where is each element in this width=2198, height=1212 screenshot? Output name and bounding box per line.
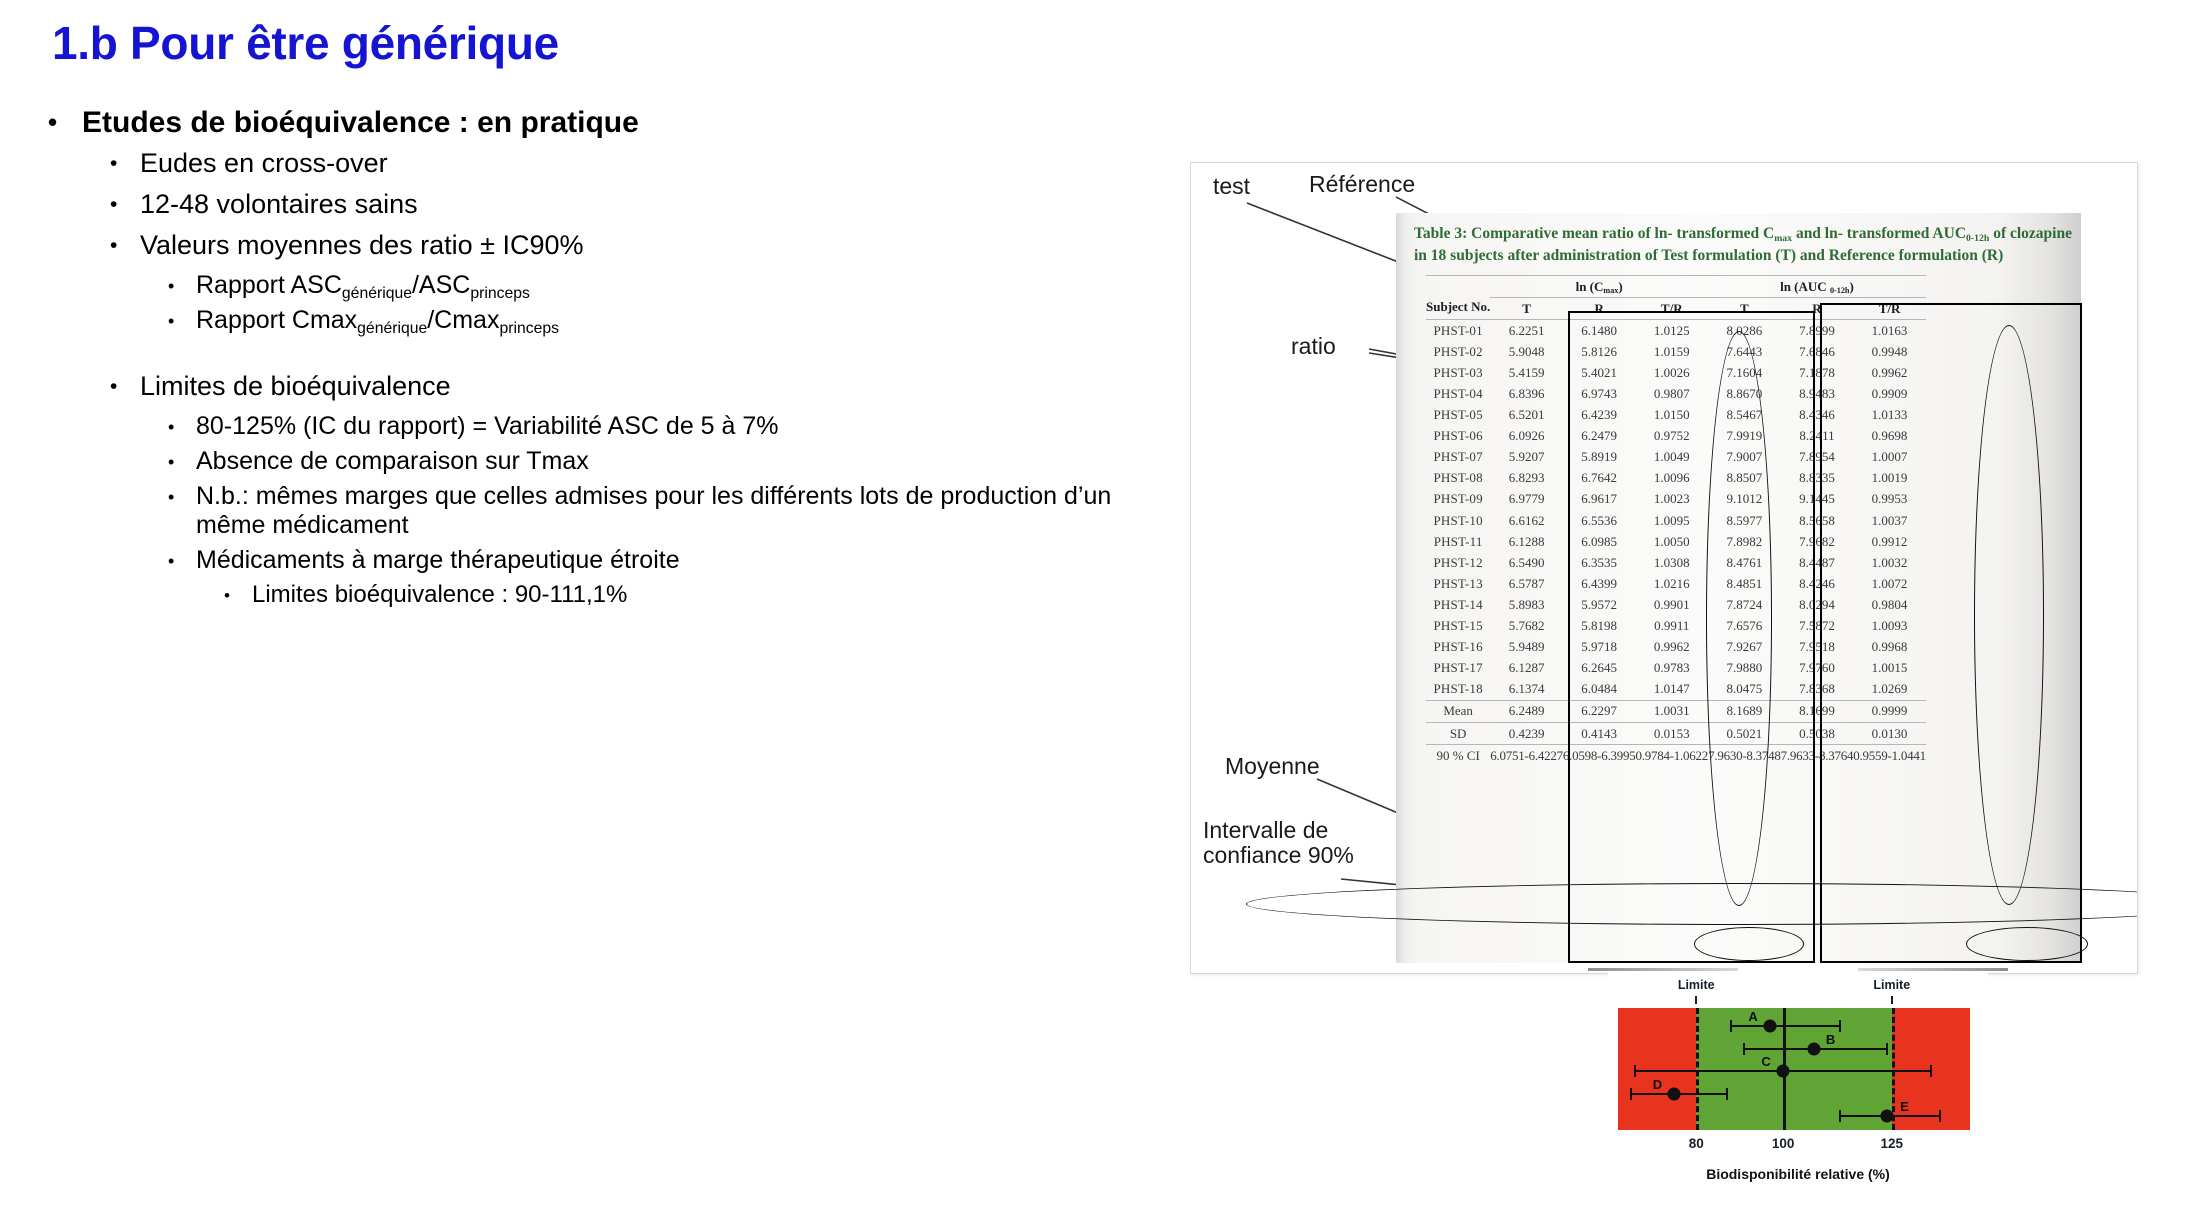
cell-subject: PHST-13 — [1426, 573, 1490, 594]
bullet-glyph: • — [110, 189, 140, 215]
cell-value: 5.9048 — [1490, 341, 1563, 362]
caption-part-2: and ln- transformed AUC — [1792, 225, 1966, 242]
cell-subject: PHST-08 — [1426, 468, 1490, 489]
asc-sub-generic: générique — [342, 285, 412, 302]
cell-value: 6.1288 — [1490, 531, 1563, 552]
cell-subject: PHST-12 — [1426, 552, 1490, 573]
bullet-text-nb: N.b.: mêmes marges que celles admises po… — [196, 482, 1158, 540]
cell-summary-label: SD — [1426, 722, 1490, 744]
cell-subject: PHST-03 — [1426, 362, 1490, 383]
bullet-glyph: • — [168, 306, 196, 330]
ellipse-mean-row — [1246, 883, 2138, 925]
list-item: • Médicaments à marge thérapeutique étro… — [48, 546, 1158, 575]
bullet-text-main: Etudes de bioéquivalence : en pratique — [82, 106, 1158, 140]
ci-cap-A-low — [1730, 1020, 1732, 1032]
bullet-glyph: • — [168, 412, 196, 436]
list-item: • Absence de comparaison sur Tmax — [48, 447, 1158, 476]
bullet-glyph: • — [168, 271, 196, 295]
cell-subject: PHST-05 — [1426, 405, 1490, 426]
column-group-auc: ln (AUC 0-12h) — [1708, 276, 1926, 298]
cell-subject: PHST-04 — [1426, 383, 1490, 404]
bullet-text-volunteers: 12-48 volontaires sains — [140, 189, 1158, 220]
data-point-B — [1807, 1042, 1820, 1055]
cell-subject: PHST-17 — [1426, 658, 1490, 679]
bullet-text-mean-ratio: Valeurs moyennes des ratio ± IC90% — [140, 230, 1158, 261]
limit-label-80: Limite — [1678, 978, 1715, 992]
cell-subject: PHST-07 — [1426, 447, 1490, 468]
cell-value: 6.5490 — [1490, 552, 1563, 573]
cell-value: 5.9489 — [1490, 637, 1563, 658]
caption-part-1: Table 3: Comparative mean ratio of ln- t… — [1414, 225, 1774, 242]
cmax-mid: /Cmax — [427, 306, 499, 334]
data-point-label-E: E — [1900, 1099, 1909, 1114]
data-point-C — [1777, 1065, 1790, 1078]
asc-sub-princeps: princeps — [470, 285, 530, 302]
bullet-text-tmax: Absence de comparaison sur Tmax — [196, 447, 1158, 476]
ci-cap-A-high — [1839, 1020, 1841, 1032]
data-point-label-A: A — [1748, 1009, 1757, 1024]
cell-value: 6.5201 — [1490, 405, 1563, 426]
asc-mid: /ASC — [412, 271, 470, 299]
ci-cap-C-high — [1930, 1065, 1932, 1077]
data-point-label-B: B — [1826, 1032, 1835, 1047]
list-item: • N.b.: mêmes marges que celles admises … — [48, 482, 1158, 540]
table-caption: Table 3: Comparative mean ratio of ln- t… — [1414, 223, 2073, 268]
cell-value: 6.8293 — [1490, 468, 1563, 489]
data-point-E — [1881, 1109, 1894, 1122]
list-item: • Rapport ASCgénérique/ASCprinceps — [48, 271, 1158, 300]
cmax-sub-generic: générique — [357, 320, 427, 337]
spacer — [48, 341, 1158, 371]
list-item: • Etudes de bioéquivalence : en pratique — [48, 106, 1158, 140]
annotation-ic90: Intervalle de confiance 90% — [1203, 818, 1383, 869]
ci-cap-B-low — [1743, 1043, 1745, 1055]
bullet-glyph: • — [110, 148, 140, 174]
caption-line-2: in 18 subjects after administration of T… — [1414, 247, 2003, 264]
bullet-text-asc-ratio: Rapport ASCgénérique/ASCprinceps — [196, 271, 1158, 300]
cell-summary-label: Mean — [1426, 700, 1490, 722]
cell-summary-label: 90 % CI — [1426, 745, 1490, 767]
data-point-D — [1668, 1087, 1681, 1100]
ci-cap-D-low — [1630, 1088, 1632, 1100]
cell-value: 6.5787 — [1490, 573, 1563, 594]
cmax-pre: Rapport Cmax — [196, 306, 357, 334]
bullet-text-90-111: Limites bioéquivalence : 90-111,1% — [252, 581, 1158, 609]
auc-post: ) — [1849, 279, 1853, 294]
bullet-glyph: • — [48, 106, 82, 135]
bullet-glyph: • — [110, 371, 140, 397]
slide-body: • Etudes de bioéquivalence : en pratique… — [48, 106, 1158, 613]
limit-label-125: Limite — [1873, 978, 1910, 992]
bullet-glyph: • — [168, 482, 196, 506]
cmax-post: ) — [1618, 279, 1622, 294]
highlight-box-cmax — [1568, 311, 1815, 963]
bullet-text-cmax-ratio: Rapport Cmaxgénérique/Cmaxprinceps — [196, 306, 1158, 335]
cell-subject: PHST-16 — [1426, 637, 1490, 658]
list-item: • Limites de bioéquivalence — [48, 371, 1158, 402]
axis-tick-80: 80 — [1689, 1136, 1704, 1151]
list-item: • 12-48 volontaires sains — [48, 189, 1158, 220]
cell-summary-value: 0.4239 — [1490, 722, 1563, 744]
ellipse-ratio-cmax — [1706, 331, 1772, 906]
bullet-text-80-125: 80-125% (IC du rapport) = Variabilité AS… — [196, 412, 1158, 441]
column-subheader-0: T — [1490, 298, 1563, 320]
caption-part-3: of clozapine — [1989, 225, 2072, 242]
cell-subject: PHST-15 — [1426, 616, 1490, 637]
cell-value: 5.7682 — [1490, 616, 1563, 637]
cell-value: 6.1374 — [1490, 679, 1563, 701]
caption-sub-max: max — [1774, 233, 1792, 244]
scanned-page: Table 3: Comparative mean ratio of ln- t… — [1396, 213, 2081, 963]
bullet-text-limits: Limites de bioéquivalence — [140, 371, 1158, 402]
ellipse-ci-auc — [1966, 927, 2088, 961]
cell-value: 5.9207 — [1490, 447, 1563, 468]
page-title: 1.b Pour être générique — [52, 16, 559, 70]
cell-value: 6.2251 — [1490, 320, 1563, 342]
bullet-text-narrow-margin: Médicaments à marge thérapeutique étroit… — [196, 546, 1158, 575]
cell-value: 6.0926 — [1490, 426, 1563, 447]
annotation-reference: Référence — [1309, 171, 1415, 198]
asc-pre: Rapport ASC — [196, 271, 342, 299]
cmax-sub: max — [1603, 286, 1618, 295]
ci-cap-B-high — [1886, 1043, 1888, 1055]
data-point-A — [1764, 1020, 1777, 1033]
cell-value: 6.1287 — [1490, 658, 1563, 679]
cell-value: 6.6162 — [1490, 510, 1563, 531]
list-item: • Eudes en cross-over — [48, 148, 1158, 179]
cell-subject: PHST-10 — [1426, 510, 1490, 531]
ellipse-ci-cmax — [1694, 927, 1804, 961]
cmax-sub-princeps: princeps — [499, 320, 559, 337]
auc-sub: 0-12h — [1830, 286, 1850, 295]
axis-title: Biodisponibilité relative (%) — [1608, 1166, 1988, 1182]
cell-subject: PHST-09 — [1426, 489, 1490, 510]
ci-cap-C-low — [1634, 1065, 1636, 1077]
cell-subject: PHST-02 — [1426, 341, 1490, 362]
column-group-cmax: ln (Cmax) — [1490, 276, 1708, 298]
table-group-header-row: Subject No. ln (Cmax) ln (AUC 0-12h) — [1426, 276, 1926, 298]
list-item: • Limites bioéquivalence : 90-111,1% — [48, 581, 1158, 609]
bullet-glyph: • — [224, 581, 252, 604]
cell-subject: PHST-06 — [1426, 426, 1490, 447]
cell-value: 5.8983 — [1490, 594, 1563, 615]
auc-pre: ln (AUC — [1780, 279, 1830, 294]
list-item: • Valeurs moyennes des ratio ± IC90% — [48, 230, 1158, 261]
data-point-label-D: D — [1653, 1077, 1662, 1092]
cell-summary-value: 6.2489 — [1490, 700, 1563, 722]
list-item: • Rapport Cmaxgénérique/Cmaxprinceps — [48, 306, 1158, 335]
cell-value: 6.9779 — [1490, 489, 1563, 510]
ci-cap-D-high — [1726, 1088, 1728, 1100]
ci-cap-E-low — [1839, 1110, 1841, 1122]
cell-subject: PHST-18 — [1426, 679, 1490, 701]
axis-tick-100: 100 — [1772, 1136, 1795, 1151]
bullet-glyph: • — [168, 447, 196, 471]
bullet-text-crossover: Eudes en cross-over — [140, 148, 1158, 179]
cell-subject: PHST-14 — [1426, 594, 1490, 615]
table-figure-panel: test Référence ratio Moyenne Intervalle … — [1190, 162, 2138, 974]
list-item: • 80-125% (IC du rapport) = Variabilité … — [48, 412, 1158, 441]
bullet-glyph: • — [110, 230, 140, 256]
cell-subject: PHST-01 — [1426, 320, 1490, 342]
annotation-ratio: ratio — [1291, 333, 1336, 360]
cell-value: 5.4159 — [1490, 362, 1563, 383]
annotation-moyenne: Moyenne — [1225, 753, 1320, 780]
bullet-glyph: • — [168, 546, 196, 570]
divider-right — [1858, 968, 2008, 971]
annotation-test: test — [1213, 173, 1250, 200]
cell-value: 6.8396 — [1490, 383, 1563, 404]
limit-tick-125 — [1891, 996, 1893, 1004]
limit-tick-80 — [1695, 996, 1697, 1004]
cmax-pre: ln (C — [1576, 279, 1604, 294]
bioavailability-chart: LimiteLimite ABCDE 80100125 Biodisponibi… — [1608, 972, 1988, 1212]
caption-sub-auc: 0-12h — [1966, 233, 1989, 244]
divider-left — [1588, 968, 1738, 971]
limit-line-80 — [1696, 1008, 1699, 1130]
plot-area: ABCDE — [1618, 1008, 1970, 1130]
axis-tick-125: 125 — [1881, 1136, 1904, 1151]
data-point-label-C: C — [1761, 1054, 1770, 1069]
ci-cap-E-high — [1939, 1110, 1941, 1122]
ci-whisker-A — [1731, 1025, 1840, 1027]
ellipse-ratio-auc — [1974, 325, 2044, 905]
column-header-subject: Subject No. — [1426, 276, 1490, 320]
cell-subject: PHST-11 — [1426, 531, 1490, 552]
cell-summary-value: 6.0751-6.4227 — [1490, 745, 1563, 767]
